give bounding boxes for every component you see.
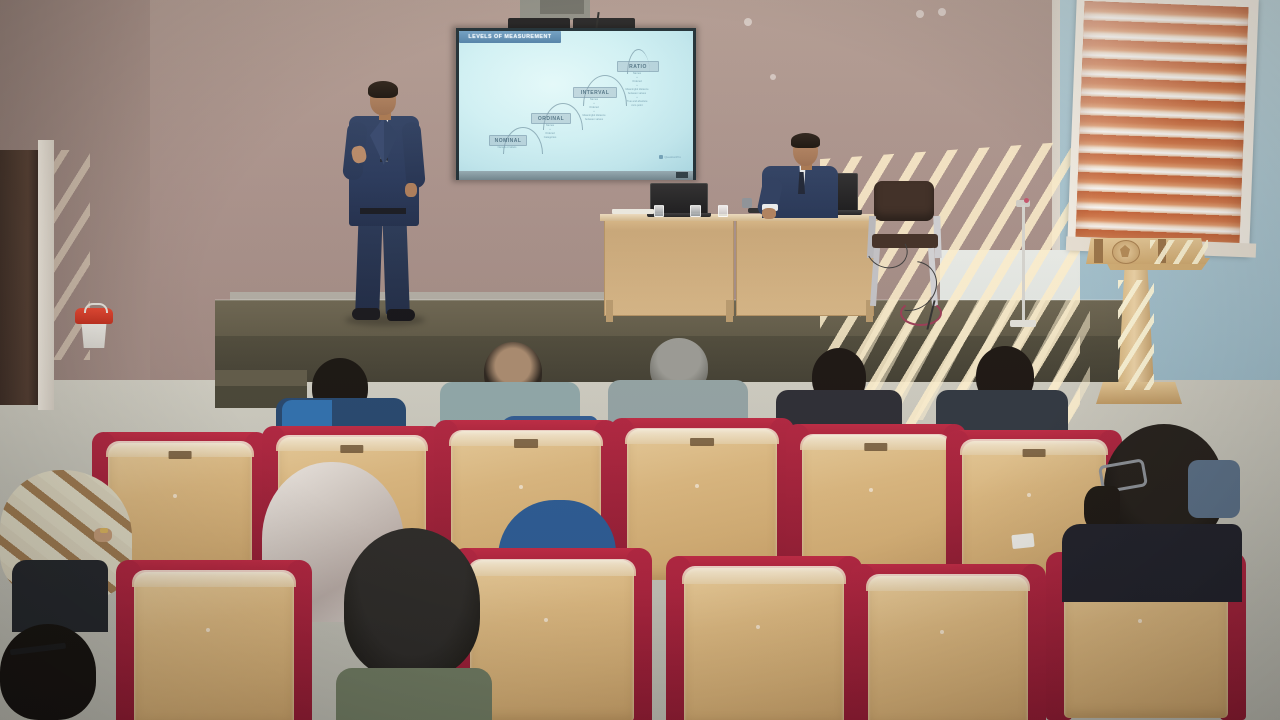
seat-back-panel [868, 576, 1029, 720]
desk-right [736, 218, 874, 316]
microphone-indicator-led [1024, 198, 1029, 203]
waste-bin-handle[interactable] [84, 303, 108, 313]
seat-number-plate [1023, 449, 1046, 457]
audience-head-bottom-left [0, 624, 96, 720]
seat-back-panel [134, 572, 295, 720]
slide-watermark-text: QuestionPro [664, 155, 681, 159]
desk-leg-1 [606, 300, 613, 322]
seat-back-rim [866, 574, 1031, 591]
seat-number-plate [514, 439, 538, 447]
paper-on-seat[interactable] [1011, 533, 1034, 549]
wall-fixture-dot [770, 74, 776, 80]
audience-head-front-center [344, 528, 480, 678]
door-frame [38, 140, 54, 410]
seat-screw [695, 484, 699, 488]
entrance-door[interactable] [0, 150, 40, 405]
auditorium-seat[interactable] [666, 556, 862, 720]
slide-step-ratio: RATIO [617, 61, 659, 72]
presenter-hair [368, 81, 398, 98]
podium-inlay-left [1094, 239, 1103, 263]
seat-number-plate [864, 443, 887, 451]
seat-screw [869, 488, 873, 492]
operator-hair [791, 133, 820, 148]
lecture-hall-photo: LEVELS OF MEASUREMENT NOMINAL Names or l… [0, 0, 1280, 720]
desk-leg-2 [726, 300, 733, 322]
podium-sunlight-stripes [1118, 280, 1154, 390]
slide-step-ratio-label: RATIO [629, 64, 647, 70]
water-glass-2[interactable] [690, 205, 701, 217]
microphone-stand-base [1010, 320, 1036, 327]
presenter-shoe-left [352, 308, 380, 320]
ceiling-projector [540, 0, 584, 14]
slide-step-interval-label: INTERVAL [581, 90, 610, 96]
presenter-hand-right [405, 183, 417, 197]
water-glass-3[interactable] [718, 205, 728, 217]
auditorium-seat[interactable] [850, 564, 1046, 720]
paper-stack[interactable] [612, 209, 654, 214]
projection-screen: LEVELS OF MEASUREMENT NOMINAL Names or l… [459, 31, 693, 171]
auditorium-seat[interactable] [116, 560, 312, 720]
slide-step-ratio-sub: Names + Ordered + Meaningful distance be… [608, 72, 666, 108]
audience-ring [100, 528, 108, 533]
audience-shoulder-far-right [1188, 460, 1240, 518]
slide-step-ordinal-label: ORDINAL [538, 116, 564, 122]
office-chair-back[interactable] [874, 181, 934, 221]
desk-left [604, 218, 734, 316]
presenter-shoe-right [387, 309, 415, 321]
seat-screw [756, 625, 760, 629]
seat-back-rim [132, 570, 297, 587]
podium-top-sunlight-stripes [1150, 240, 1208, 264]
presenter-belt [360, 208, 406, 214]
seat-back-rim [468, 559, 636, 577]
microphone-stand-pole [1022, 205, 1025, 323]
slide-step-nominal-label: NOMINAL [495, 138, 522, 144]
ceiling-fixture-dot-3 [938, 8, 946, 16]
water-glass-1[interactable] [654, 205, 664, 217]
audience-torso-right [1062, 524, 1242, 602]
operator-hand [762, 208, 776, 219]
seat-number-plate [690, 438, 714, 446]
screen-pull-tab[interactable] [676, 172, 688, 178]
mouse[interactable] [742, 198, 752, 208]
seat-back-rim [682, 566, 847, 583]
slide-step-ordinal-sub: Names + Ordered Categories [521, 124, 579, 140]
screen-bottom-bar [459, 171, 693, 180]
ceiling-fixture-dot-1 [744, 18, 752, 26]
ceiling-fixture-dot-2 [916, 10, 924, 18]
blinds-sun-glare [1075, 1, 1248, 245]
slide-title-text: LEVELS OF MEASUREMENT [468, 34, 551, 40]
audience-torso-front-center [336, 668, 492, 720]
watermark-mark-icon [659, 155, 663, 159]
slide-watermark: QuestionPro [659, 155, 681, 159]
slide-title-banner: LEVELS OF MEASUREMENT [459, 31, 561, 43]
seat-back-panel [470, 560, 634, 720]
seat-number-plate [340, 445, 363, 453]
seat-screw [519, 485, 523, 489]
red-cable-coil [900, 300, 942, 326]
seat-back-panel [684, 568, 845, 720]
audience-torso-scarf-left [12, 560, 108, 632]
slide-step-nominal-sub: Names or labels [478, 146, 536, 150]
seat-number-plate [169, 451, 192, 459]
